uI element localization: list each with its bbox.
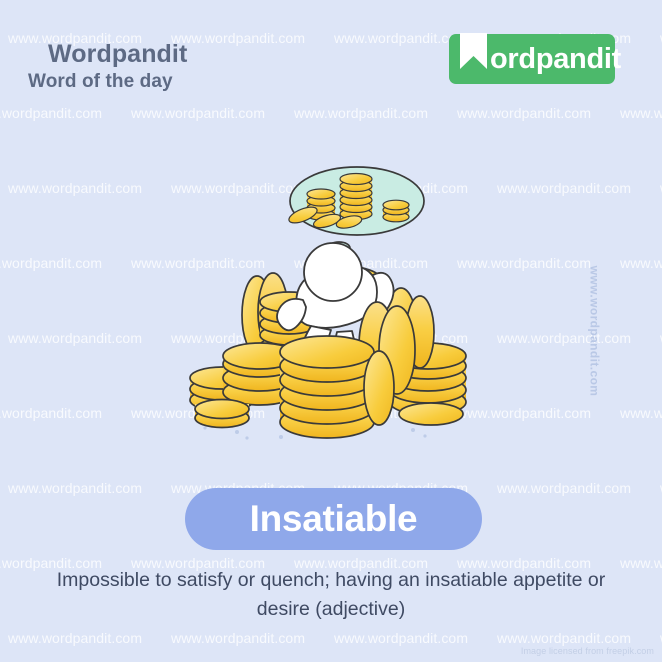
word-definition: Impossible to satisfy or quench; having … — [31, 566, 631, 624]
image-credit: Image licensed from freepik.com — [521, 646, 654, 656]
wordpandit-logo[interactable]: ordpandit — [449, 34, 615, 84]
word-pill: Insatiable — [185, 488, 482, 550]
logo-text: ordpandit — [490, 34, 621, 84]
coin-flat-bottom-left — [195, 400, 249, 428]
illustration-person-on-coins — [185, 160, 485, 455]
word-of-the-day-card: www.wordpandit.comwww.wordpandit.comwww.… — [0, 0, 662, 662]
thought-bubble — [287, 167, 424, 254]
word-label: Insatiable — [250, 498, 418, 540]
side-watermark: www.wordpandit.com — [588, 266, 602, 397]
coin-leaning-front-right — [364, 351, 394, 425]
coin-flat-bottom-right — [399, 403, 463, 425]
page-subtitle: Word of the day — [28, 71, 173, 93]
page-title: Wordpandit — [48, 40, 187, 69]
coin-stack-center — [280, 336, 374, 438]
bookmark-icon — [460, 33, 487, 69]
